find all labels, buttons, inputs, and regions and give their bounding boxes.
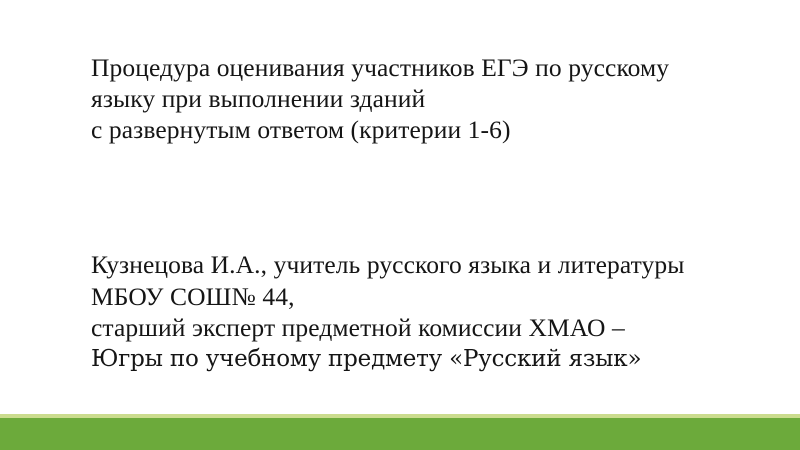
slide-canvas: Процедура оценивания участников ЕГЭ по р…: [0, 0, 800, 450]
subtitle-line-3: старший эксперт предметной комиссии ХМАО…: [91, 312, 771, 344]
subtitle-line-4: Югры по учебному предмету «Русский язык»: [91, 344, 771, 376]
title-line-1: Процедура оценивания участников ЕГЭ по р…: [91, 52, 751, 83]
title-line-3: с развернутым ответом (критерии 1-6): [91, 114, 751, 145]
slide-title: Процедура оценивания участников ЕГЭ по р…: [91, 52, 751, 145]
title-line-2: языку при выполнении зданий: [91, 83, 751, 114]
subtitle-line-1: Кузнецова И.А., учитель русского языка и…: [91, 249, 771, 281]
subtitle-line-2: МБОУ СОШ№ 44,: [91, 281, 771, 313]
decorative-green-band: [0, 418, 800, 450]
slide-subtitle: Кузнецова И.А., учитель русского языка и…: [91, 249, 771, 375]
